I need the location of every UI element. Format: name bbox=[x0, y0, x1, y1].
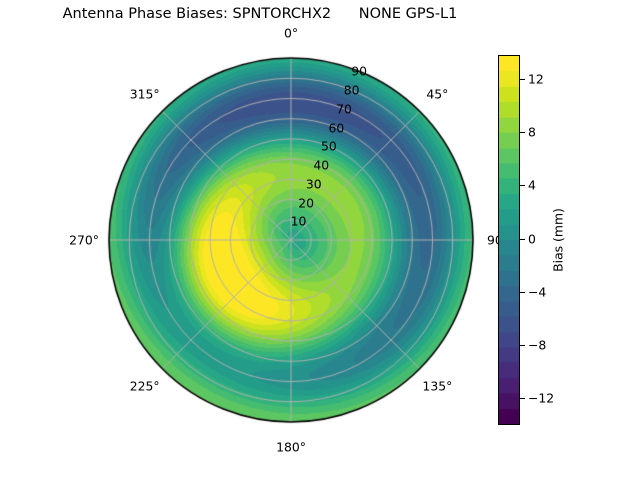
theta-tick-0: 0° bbox=[284, 26, 298, 41]
theta-tick-315: 315° bbox=[130, 86, 160, 101]
theta-tick-270: 270° bbox=[69, 233, 99, 248]
colorbar-tick-mark-2 bbox=[520, 292, 525, 293]
theta-tick-180: 180° bbox=[276, 440, 306, 455]
colorbar-tick-label-4: 4 bbox=[528, 178, 536, 193]
r-tick-90: 90 bbox=[351, 64, 367, 79]
colorbar-gradient bbox=[498, 55, 520, 425]
r-tick-40: 40 bbox=[313, 158, 329, 173]
r-tick-80: 80 bbox=[344, 83, 360, 98]
colorbar-tick-mark-6 bbox=[520, 79, 525, 80]
r-tick-60: 60 bbox=[329, 120, 345, 135]
colorbar-tick-label-2: −4 bbox=[528, 284, 546, 299]
colorbar-tick-mark-4 bbox=[520, 185, 525, 186]
figure-canvas: Antenna Phase Biases: SPNTORCHX2 NONE GP… bbox=[0, 0, 640, 480]
colorbar-tick-mark-1 bbox=[520, 345, 525, 346]
colorbar-tick-mark-0 bbox=[520, 398, 525, 399]
colorbar-tick-label-3: 0 bbox=[528, 231, 536, 246]
colorbar-axis-label: Bias (mm) bbox=[551, 208, 566, 272]
colorbar[interactable]: −12−8−404812 bbox=[498, 55, 520, 425]
r-tick-10: 10 bbox=[291, 214, 307, 229]
colorbar-tick-label-5: 8 bbox=[528, 125, 536, 140]
r-tick-20: 20 bbox=[298, 195, 314, 210]
r-tick-30: 30 bbox=[306, 176, 322, 191]
r-tick-70: 70 bbox=[336, 101, 352, 116]
r-tick-50: 50 bbox=[321, 139, 337, 154]
colorbar-tick-label-6: 12 bbox=[528, 71, 544, 86]
colorbar-tick-mark-3 bbox=[520, 239, 525, 240]
theta-tick-135: 135° bbox=[422, 379, 452, 394]
theta-tick-45: 45° bbox=[426, 86, 448, 101]
theta-tick-225: 225° bbox=[130, 379, 160, 394]
colorbar-tick-mark-5 bbox=[520, 132, 525, 133]
colorbar-tick-label-1: −8 bbox=[528, 338, 546, 353]
colorbar-tick-label-0: −12 bbox=[528, 391, 554, 406]
